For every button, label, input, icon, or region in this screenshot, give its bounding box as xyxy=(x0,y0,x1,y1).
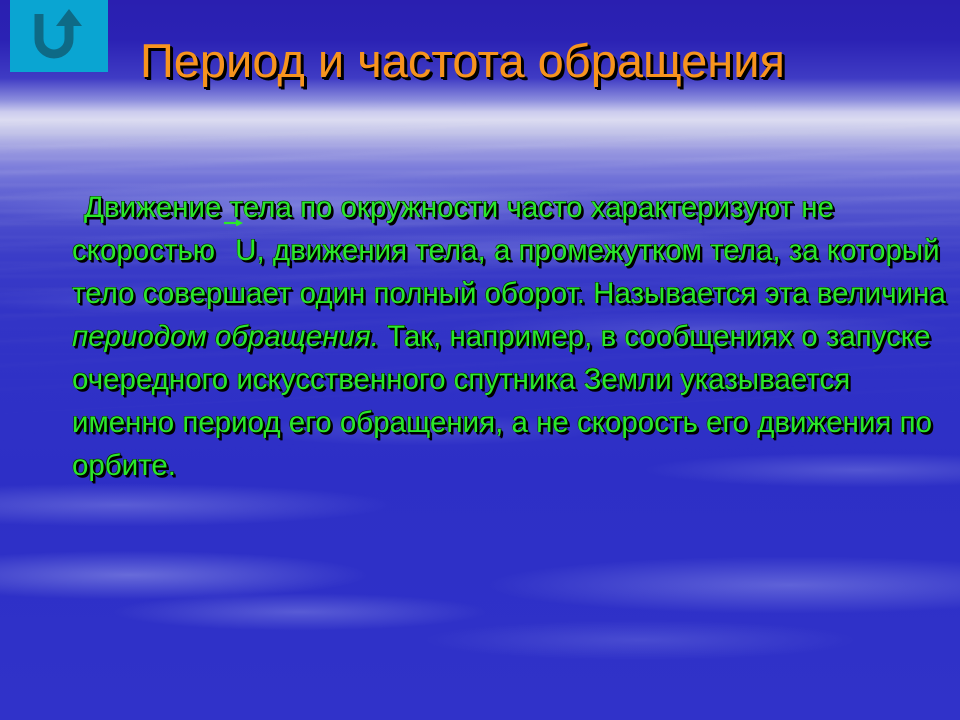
velocity-vector-symbol: U xyxy=(223,229,256,272)
vector-symbol-letter: U xyxy=(235,234,256,267)
slide-body-text: Движение тела по окружности часто характ… xyxy=(72,186,952,487)
u-turn-arrow-icon xyxy=(29,9,89,63)
body-text-italic-term: периодом обращения. xyxy=(72,320,379,353)
page-title: Период и частота обращения xyxy=(140,36,940,85)
presentation-slide: Период и частота обращения Движение тела… xyxy=(0,0,960,720)
logo-badge xyxy=(10,0,108,72)
